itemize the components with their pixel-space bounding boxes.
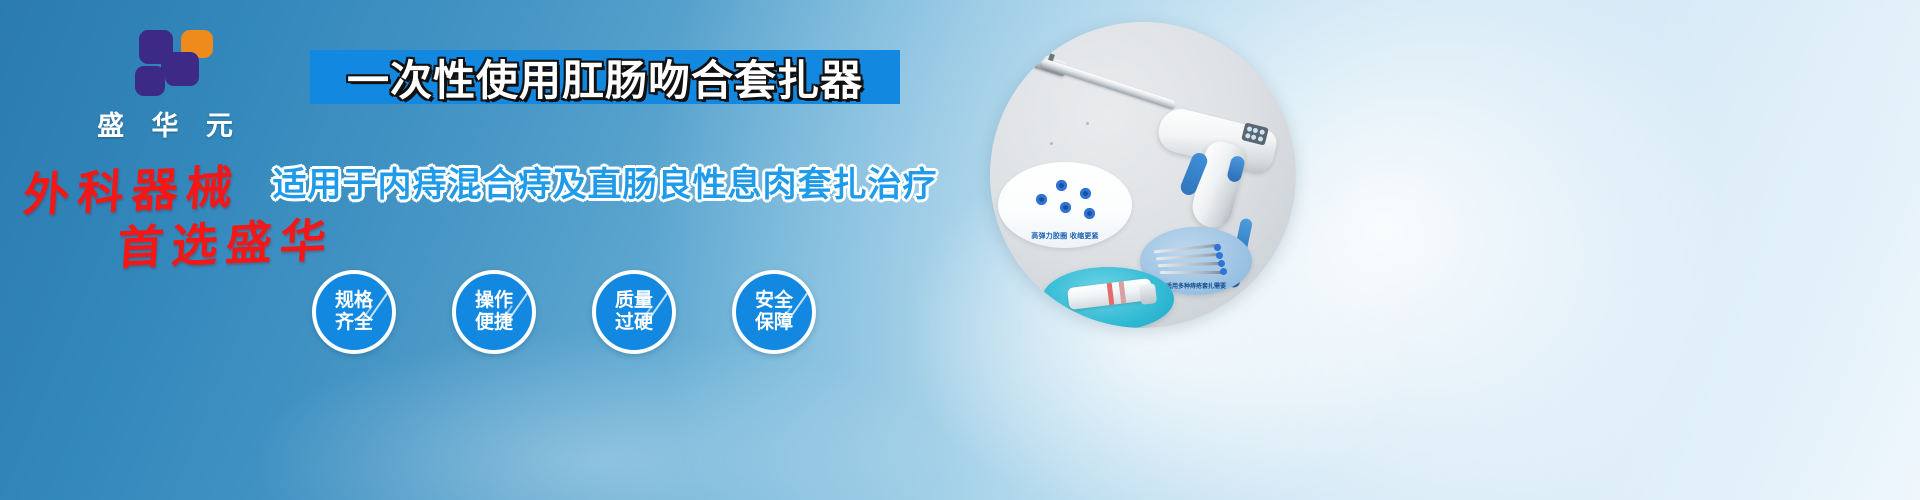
brand-logo[interactable]: 盛 华 元: [62, 26, 277, 136]
badge-safety[interactable]: 安全 保障: [732, 270, 816, 354]
photo-speck: [1086, 122, 1089, 125]
feature-badges: 规格 齐全 操作 便捷 质量 过硬 安全 保障: [312, 270, 852, 360]
badge-specifications[interactable]: 规格 齐全: [312, 270, 396, 354]
device-shaft: [1041, 58, 1177, 110]
badge-label-line2: 齐全: [335, 312, 373, 334]
shenghuayuan-blocks-logo-icon: [125, 28, 217, 100]
badge-label-line2: 便捷: [475, 312, 513, 334]
badge-label-line2: 保障: [755, 312, 793, 334]
product-photo[interactable]: 高弹力胶圈 收缩更紧 适用多种痔疮套扎需要: [990, 22, 1296, 328]
promo-banner: 盛 华 元 一次性使用肛肠吻合套扎器 外科器械 首选盛华 适用于内痔混合痔及直肠…: [0, 0, 1920, 500]
inset-rubber-rings: 高弹力胶圈 收缩更紧: [998, 162, 1132, 248]
cartridge-cap: [1139, 283, 1157, 305]
inset-rings-caption: 高弹力胶圈 收缩更紧: [998, 231, 1132, 241]
badge-label-line2: 过硬: [615, 312, 653, 334]
page-subtitle: 适用于内痔混合痔及直肠良性息肉套扎治疗: [295, 158, 915, 204]
photo-speck: [1050, 142, 1053, 145]
page-title: 一次性使用肛肠吻合套扎器: [310, 48, 900, 106]
badge-operation[interactable]: 操作 便捷: [452, 270, 536, 354]
brand-name: 盛 华 元: [62, 104, 277, 143]
inset-cartridge: [1042, 267, 1174, 328]
badge-quality[interactable]: 质量 过硬: [592, 270, 676, 354]
slogan-line-2: 首选盛华: [115, 204, 336, 278]
